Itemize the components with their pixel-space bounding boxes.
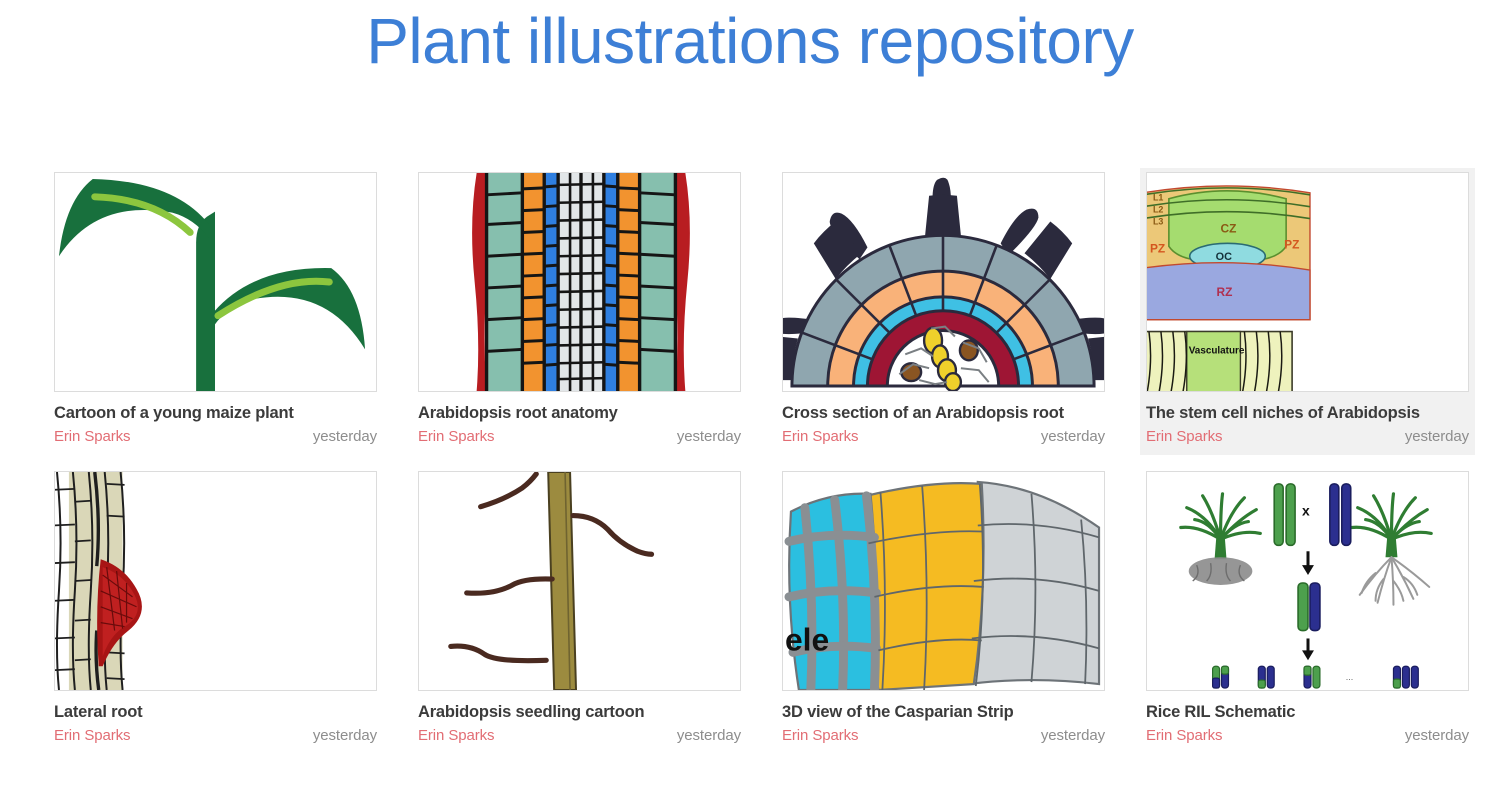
svg-text:PZ: PZ — [1284, 237, 1299, 251]
card-meta: Erin Sparks yesterday — [1146, 428, 1469, 445]
card-owner: Erin Sparks — [54, 428, 130, 445]
thumbnail-frame[interactable]: x — [1146, 471, 1469, 691]
illustration-grid: Cartoon of a young maize plant Erin Spar… — [48, 168, 1484, 754]
svg-text:CZ: CZ — [1221, 221, 1237, 235]
root-cross-section-icon — [783, 173, 1104, 391]
gallery-card-root-cross-section[interactable]: Cross section of an Arabidopsis root Eri… — [776, 168, 1111, 455]
svg-text:x: x — [1302, 503, 1310, 519]
card-meta: Erin Sparks yesterday — [782, 428, 1105, 445]
card-title: Lateral root — [54, 703, 377, 721]
card-meta: Erin Sparks yesterday — [1146, 727, 1469, 744]
maize-plant-cartoon-icon — [55, 173, 376, 391]
gallery-card-maize-plant[interactable]: Cartoon of a young maize plant Erin Spar… — [48, 168, 383, 455]
casparian-strip-3d-icon: ele — [783, 472, 1104, 690]
card-meta: Erin Sparks yesterday — [418, 727, 741, 744]
svg-text:PZ: PZ — [1150, 241, 1165, 255]
card-title: Cross section of an Arabidopsis root — [782, 404, 1105, 422]
card-title: The stem cell niches of Arabidopsis — [1146, 404, 1469, 422]
thumbnail-frame[interactable]: CZ PZ OC RZ L1 L2 L3 PZ — [1146, 172, 1469, 392]
card-timestamp: yesterday — [1041, 727, 1105, 744]
card-title: 3D view of the Casparian Strip — [782, 703, 1105, 721]
card-meta: Erin Sparks yesterday — [782, 727, 1105, 744]
card-timestamp: yesterday — [313, 727, 377, 744]
card-owner: Erin Sparks — [782, 727, 858, 744]
card-timestamp: yesterday — [313, 428, 377, 445]
gallery-page: Plant illustrations repository Cartoon o… — [0, 0, 1500, 791]
svg-text:L3: L3 — [1153, 217, 1163, 227]
card-meta: Erin Sparks yesterday — [54, 727, 377, 744]
card-owner: Erin Sparks — [782, 428, 858, 445]
svg-text:OC: OC — [1216, 251, 1233, 263]
gallery-card-lateral-root[interactable]: Lateral root Erin Sparks yesterday — [48, 467, 383, 754]
svg-text:L1: L1 — [1153, 193, 1163, 203]
card-title: Arabidopsis root anatomy — [418, 404, 741, 422]
card-meta: Erin Sparks yesterday — [54, 428, 377, 445]
svg-text:...: ... — [1346, 672, 1353, 682]
svg-text:Vasculature: Vasculature — [1189, 345, 1245, 356]
card-owner: Erin Sparks — [418, 727, 494, 744]
card-title: Cartoon of a young maize plant — [54, 404, 377, 422]
thumbnail-frame[interactable]: ele — [782, 471, 1105, 691]
gallery-card-stem-cell-niches[interactable]: CZ PZ OC RZ L1 L2 L3 PZ — [1140, 168, 1475, 455]
gallery-card-rice-ril[interactable]: x — [1140, 467, 1475, 754]
card-owner: Erin Sparks — [54, 727, 130, 744]
card-timestamp: yesterday — [677, 428, 741, 445]
page-title: Plant illustrations repository — [0, 6, 1500, 76]
thumbnail-frame[interactable] — [418, 471, 741, 691]
svg-text:L2: L2 — [1153, 205, 1163, 215]
shoot-stem-cell-niche-diagram-icon: CZ PZ OC RZ L1 L2 L3 PZ — [1147, 173, 1468, 391]
gallery-card-casparian-strip[interactable]: ele 3D view of the Casparian Strip Erin … — [776, 467, 1111, 754]
rice-ril-crossing-schematic-icon: x — [1147, 472, 1468, 690]
gallery-card-root-anatomy[interactable]: Arabidopsis root anatomy Erin Sparks yes… — [412, 168, 747, 455]
card-timestamp: yesterday — [1405, 727, 1469, 744]
card-title: Rice RIL Schematic — [1146, 703, 1469, 721]
thumbnail-frame[interactable] — [54, 471, 377, 691]
thumbnail-frame[interactable] — [418, 172, 741, 392]
card-owner: Erin Sparks — [1146, 428, 1222, 445]
card-timestamp: yesterday — [1041, 428, 1105, 445]
thumbnail-frame[interactable] — [54, 172, 377, 392]
card-title: Arabidopsis seedling cartoon — [418, 703, 741, 721]
root-longitudinal-section-icon — [419, 173, 740, 391]
gallery-card-seedling-cartoon[interactable]: Arabidopsis seedling cartoon Erin Sparks… — [412, 467, 747, 754]
card-meta: Erin Sparks yesterday — [418, 428, 741, 445]
svg-text:RZ: RZ — [1217, 285, 1233, 299]
seedling-root-cartoon-icon — [419, 472, 740, 690]
card-owner: Erin Sparks — [418, 428, 494, 445]
card-timestamp: yesterday — [677, 727, 741, 744]
thumbnail-frame[interactable] — [782, 172, 1105, 392]
card-owner: Erin Sparks — [1146, 727, 1222, 744]
svg-text:ele: ele — [785, 622, 829, 658]
card-timestamp: yesterday — [1405, 428, 1469, 445]
lateral-root-primordium-icon — [55, 472, 376, 690]
